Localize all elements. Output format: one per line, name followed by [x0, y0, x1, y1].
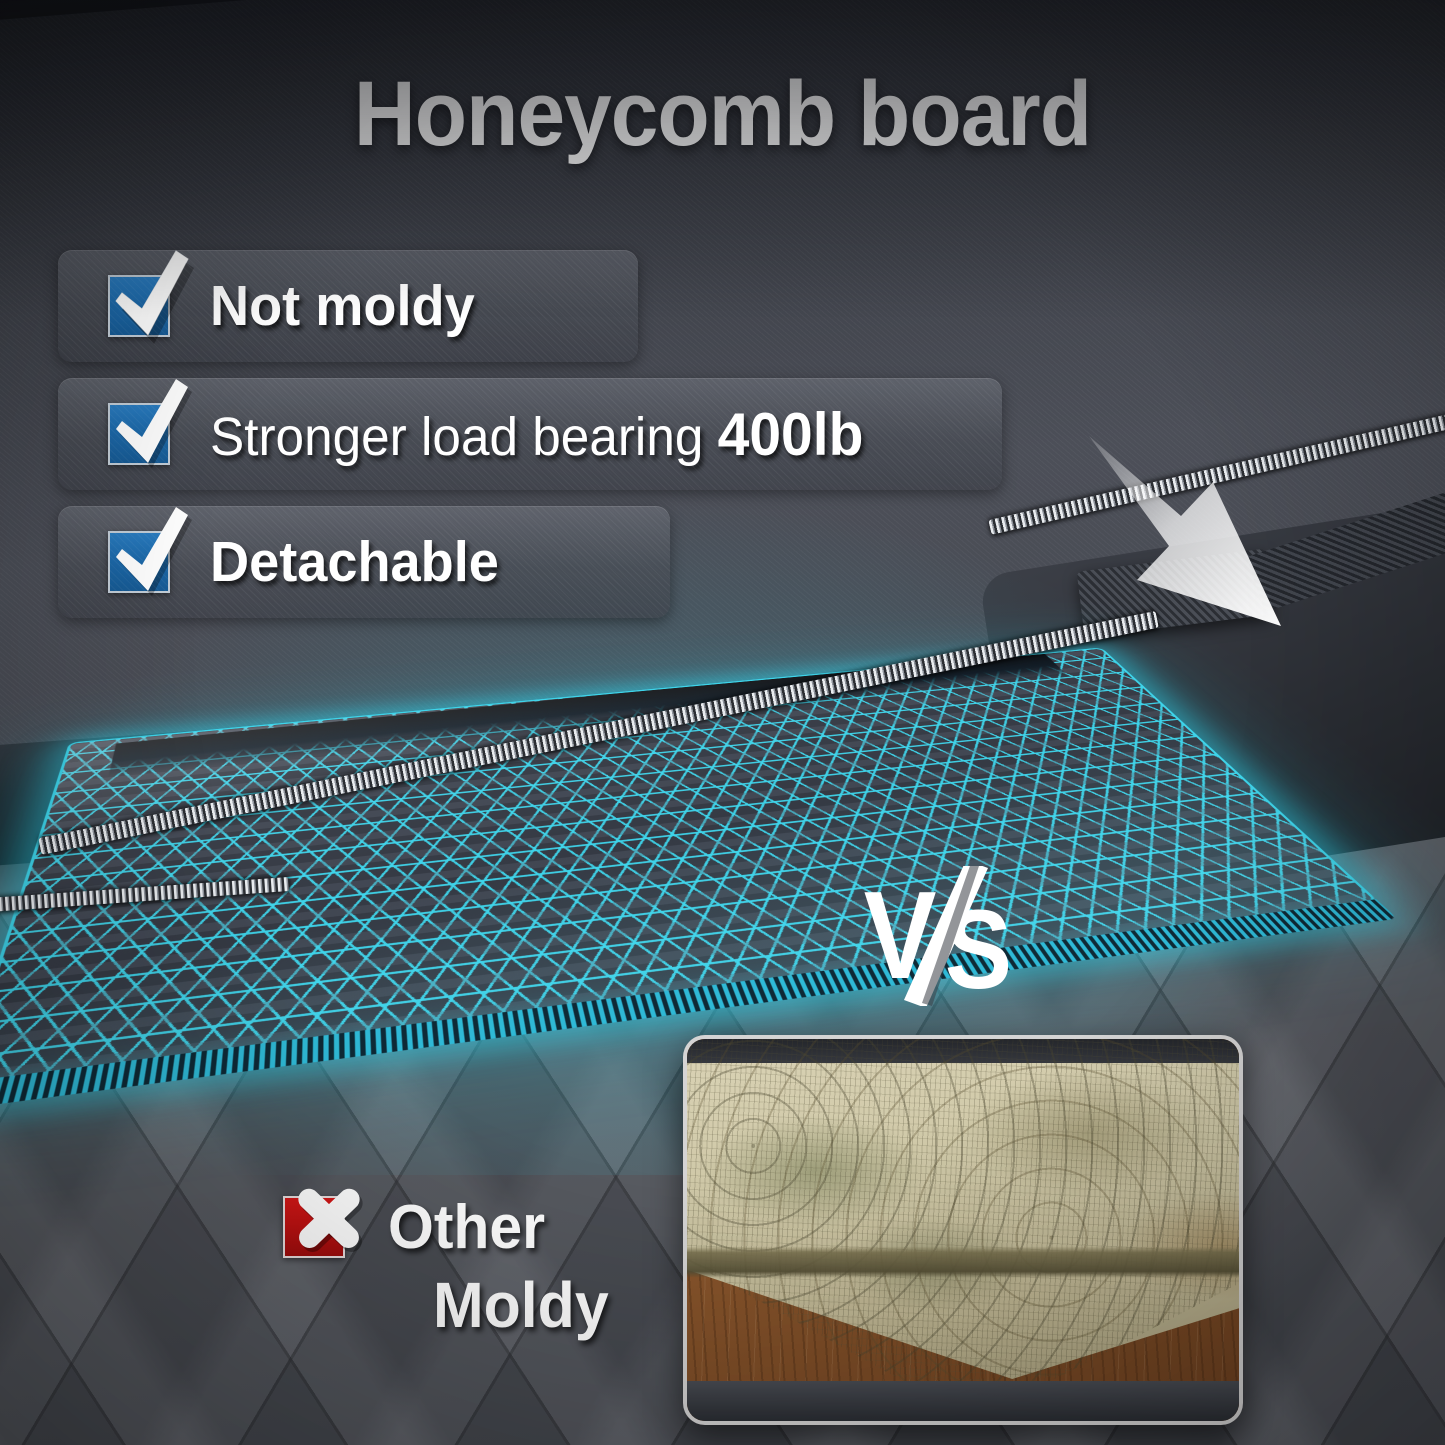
moldy-board-photo	[683, 1035, 1243, 1425]
check-icon	[104, 249, 196, 345]
feature-label: Stronger load bearing 400lb	[210, 400, 863, 469]
negative-comparison-block: Other Moldy	[283, 1192, 703, 1372]
feature-label-emphasis: 400lb	[718, 401, 864, 468]
check-icon	[104, 505, 196, 601]
check-icon	[104, 377, 196, 473]
feature-row-detachable: Detachable	[58, 506, 670, 618]
checkbox-wrapper	[108, 275, 170, 337]
checkbox-wrapper	[108, 531, 170, 593]
checkbox-wrapper	[108, 403, 170, 465]
photo-bottom-shadow	[687, 1381, 1239, 1421]
feature-label: Not moldy	[210, 273, 475, 339]
feature-row-load-bearing: Stronger load bearing 400lb	[58, 378, 1002, 490]
direction-arrow-icon	[1085, 430, 1385, 660]
page-title: Honeycomb board	[51, 62, 1395, 167]
x-icon	[273, 1164, 383, 1274]
feature-row-not-moldy: Not moldy	[58, 250, 638, 362]
infographic-canvas: Honeycomb board Not moldy	[0, 0, 1445, 1445]
vs-badge: V S	[862, 866, 1022, 1006]
negative-label-line1: Other	[388, 1192, 545, 1263]
feature-label-text: Stronger load bearing	[210, 407, 718, 467]
feature-label: Detachable	[210, 529, 499, 595]
feature-list: Not moldy Stronger load bearing 400lb	[58, 250, 1038, 634]
negative-label-line2: Moldy	[433, 1268, 609, 1342]
